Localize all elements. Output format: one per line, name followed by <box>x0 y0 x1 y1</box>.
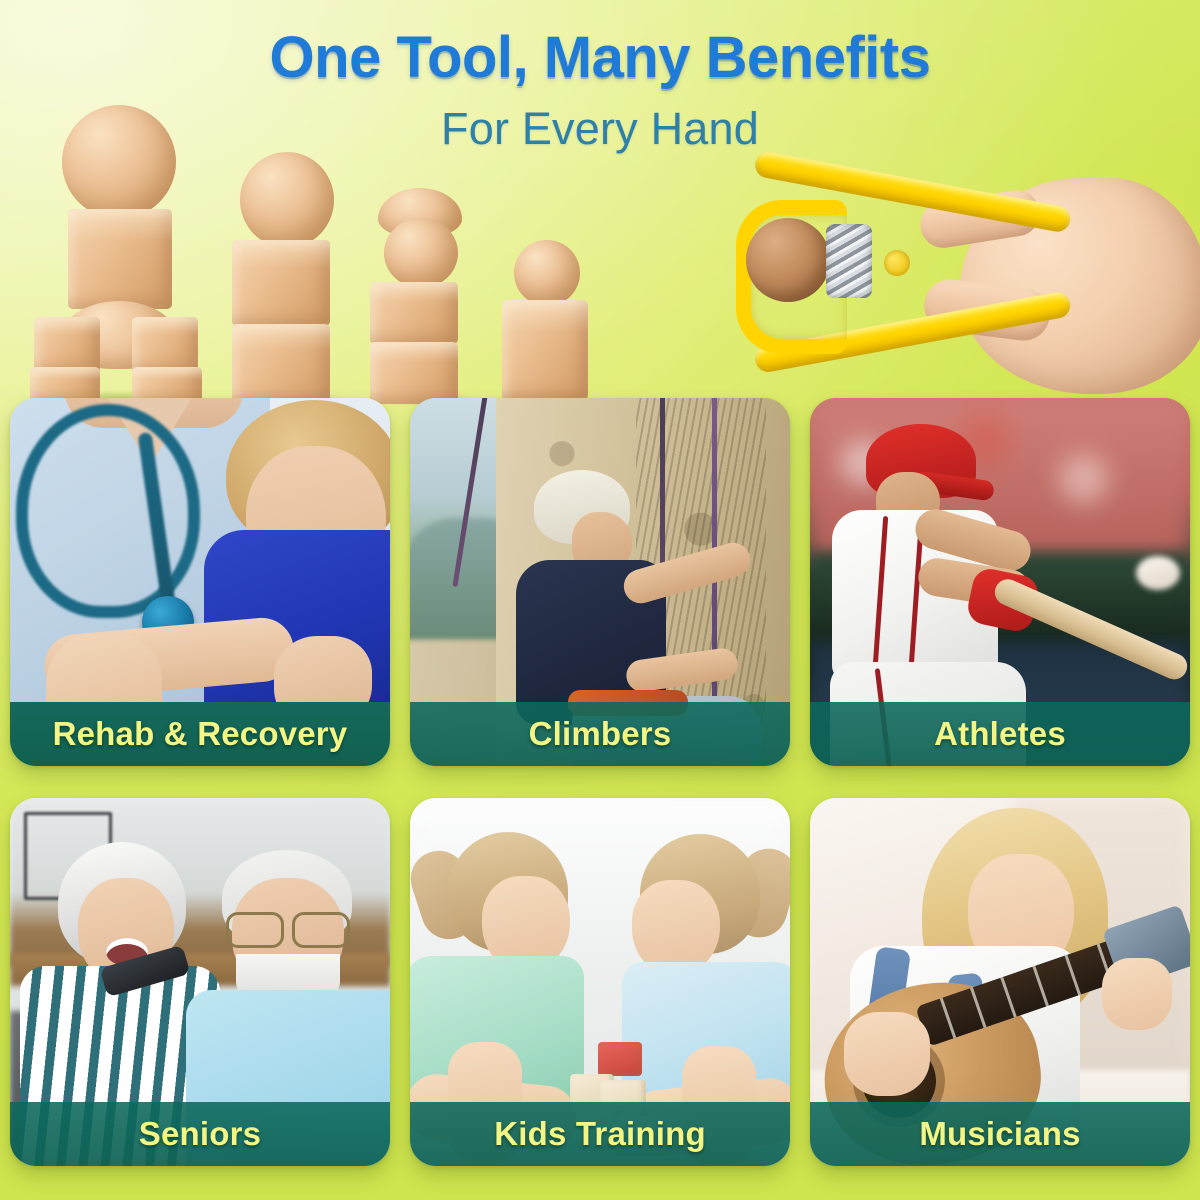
toy-block <box>598 1042 642 1076</box>
product-infographic-poster: One Tool, Many Benefits For Every Hand <box>0 0 1200 1200</box>
card-caption-seniors: Seniors <box>10 1102 390 1166</box>
fretting-hand <box>1102 958 1172 1030</box>
header-block: One Tool, Many Benefits For Every Hand <box>0 28 1200 155</box>
card-kids[interactable]: Kids Training <box>410 798 790 1166</box>
gripper-pivot <box>884 250 910 276</box>
card-rehab[interactable]: Rehab & Recovery <box>10 398 390 766</box>
card-label-musicians: Musicians <box>919 1115 1080 1153</box>
card-athletes[interactable]: Athletes <box>810 398 1190 766</box>
card-caption-athletes: Athletes <box>810 702 1190 766</box>
figure-tiny <box>496 240 592 400</box>
card-label-athletes: Athletes <box>934 715 1066 753</box>
card-caption-rehab: Rehab & Recovery <box>10 702 390 766</box>
strumming-hand <box>844 1012 930 1096</box>
metal-spring <box>826 224 872 298</box>
card-label-kids: Kids Training <box>494 1115 706 1153</box>
card-musicians[interactable]: Musicians <box>810 798 1190 1166</box>
figure-medium <box>226 152 346 400</box>
nut <box>746 218 830 302</box>
page-title: One Tool, Many Benefits <box>0 28 1200 87</box>
page-subtitle: For Every Hand <box>0 103 1200 155</box>
card-caption-musicians: Musicians <box>810 1102 1190 1166</box>
benefit-card-grid: Rehab & Recovery <box>10 398 1190 1198</box>
card-label-rehab: Rehab & Recovery <box>53 715 348 753</box>
hand-gripper-tool-illustration <box>730 172 1200 402</box>
figure-small <box>362 188 474 400</box>
card-seniors[interactable]: Seniors <box>10 798 390 1166</box>
card-label-seniors: Seniors <box>139 1115 261 1153</box>
card-caption-climbers: Climbers <box>410 702 790 766</box>
card-caption-kids: Kids Training <box>410 1102 790 1166</box>
card-climbers[interactable]: Climbers <box>410 398 790 766</box>
card-label-climbers: Climbers <box>529 715 672 753</box>
